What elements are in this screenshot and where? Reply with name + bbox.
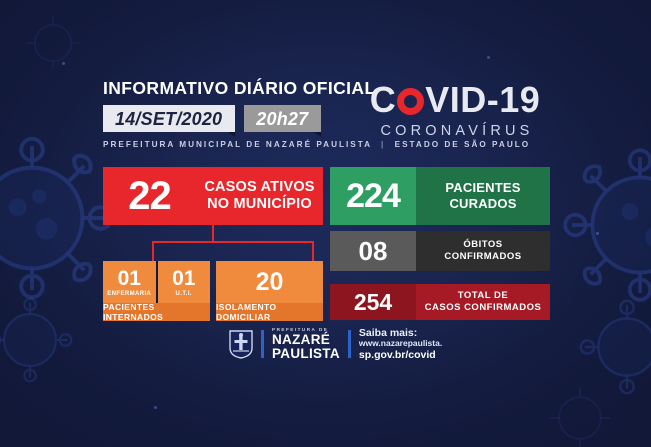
badge-fold-corner bbox=[314, 132, 321, 137]
curados-label-line1: PACIENTES bbox=[445, 180, 520, 196]
municipality-brand: PREFEITURA DE NAZARÉ PAULISTA bbox=[272, 327, 340, 361]
enfermaria-label: ENFERMARIA bbox=[107, 291, 151, 297]
covid-logo: C VID-19 CORONAVÍRUS bbox=[360, 82, 550, 139]
obitos-label: ÓBITOS CONFIRMADOS bbox=[416, 231, 550, 271]
date-badge: 14/SET/2020 bbox=[103, 105, 235, 132]
sparkle-dot bbox=[596, 232, 599, 235]
sparkle-dot bbox=[154, 406, 157, 409]
connector-stem-vertical bbox=[212, 225, 214, 241]
internados-cells: 01 ENFERMARIA 01 U.T.I. bbox=[103, 261, 210, 303]
virus-decoration-left-small bbox=[0, 292, 78, 388]
saiba-mais-url-line2[interactable]: sp.gov.br/covid bbox=[359, 349, 442, 361]
covid-logo-letter-c: C bbox=[370, 82, 397, 118]
casos-ativos-value: 22 bbox=[103, 167, 196, 225]
obitos-value: 08 bbox=[330, 231, 416, 271]
footer-divider bbox=[348, 330, 351, 358]
uti-label: U.T.I. bbox=[176, 291, 192, 297]
isolamento-footer-label: ISOLAMENTO DOMICILIAR bbox=[216, 303, 323, 321]
isolamento-cells: 20 bbox=[216, 261, 323, 303]
casos-ativos-label-line1: CASOS ATIVOS bbox=[204, 179, 314, 196]
total-label: TOTAL DE CASOS CONFIRMADOS bbox=[416, 284, 550, 320]
total-label-line1: TOTAL DE bbox=[458, 290, 508, 302]
header-subtitle: PREFEITURA MUNICIPAL DE NAZARÉ PAULISTA … bbox=[103, 140, 553, 149]
badge-fold-corner bbox=[228, 132, 235, 137]
isolamento-cell: 20 bbox=[216, 261, 323, 303]
card-casos-ativos: 22 CASOS ATIVOS NO MUNICÍPIO bbox=[103, 167, 323, 225]
coat-of-arms-icon bbox=[228, 329, 254, 359]
brand-line1: NAZARÉ bbox=[272, 333, 340, 347]
internados-footer-label: PACIENTES INTERNADOS bbox=[103, 303, 210, 321]
footer-divider bbox=[261, 330, 264, 358]
isolamento-value: 20 bbox=[256, 272, 284, 293]
internados-cell-enfermaria: 01 ENFERMARIA bbox=[103, 261, 156, 303]
infographic-canvas: INFORMATIVO DIÁRIO OFICIAL 14/SET/2020 2… bbox=[0, 0, 651, 447]
curados-label-line2: CURADOS bbox=[449, 196, 516, 212]
time-badge: 20h27 bbox=[244, 105, 321, 132]
total-label-line2: CASOS CONFIRMADOS bbox=[425, 302, 542, 314]
subtitle-separator: | bbox=[376, 140, 390, 149]
sparkle-dot bbox=[487, 56, 490, 59]
internados-cell-uti: 01 U.T.I. bbox=[158, 261, 211, 303]
breakdown-connector bbox=[103, 225, 323, 261]
connector-branch-left bbox=[152, 241, 154, 261]
virus-decoration-top-left bbox=[18, 8, 88, 78]
uti-value: 01 bbox=[172, 268, 195, 289]
casos-ativos-label: CASOS ATIVOS NO MUNICÍPIO bbox=[196, 167, 323, 225]
obitos-label-line1: ÓBITOS bbox=[463, 239, 502, 251]
curados-value: 224 bbox=[330, 167, 416, 225]
virus-decoration-bottom-right bbox=[540, 378, 620, 447]
total-value: 254 bbox=[330, 284, 416, 320]
subtitle-state: ESTADO DE SÃO PAULO bbox=[395, 140, 531, 149]
brand-line2: PAULISTA bbox=[272, 347, 340, 361]
enfermaria-value: 01 bbox=[118, 268, 141, 289]
virus-ring-icon bbox=[397, 88, 424, 115]
covid-logo-rest: VID-19 bbox=[425, 82, 540, 118]
curados-label: PACIENTES CURADOS bbox=[416, 167, 550, 225]
sparkle-dot bbox=[62, 62, 65, 65]
saiba-mais-block[interactable]: Saiba mais: www.nazarepaulista. sp.gov.b… bbox=[359, 327, 442, 361]
card-total-casos-confirmados: 254 TOTAL DE CASOS CONFIRMADOS bbox=[330, 284, 550, 320]
virus-decoration-right bbox=[555, 140, 651, 310]
covid-logo-subtitle: CORONAVÍRUS bbox=[360, 123, 550, 139]
card-obitos-confirmados: 08 ÓBITOS CONFIRMADOS bbox=[330, 231, 550, 271]
covid-logo-wordmark: C VID-19 bbox=[360, 82, 550, 118]
saiba-mais-url-line1[interactable]: www.nazarepaulista. bbox=[359, 339, 442, 349]
connector-horizontal bbox=[152, 241, 314, 243]
footer-block: PREFEITURA DE NAZARÉ PAULISTA Saiba mais… bbox=[228, 326, 426, 362]
card-pacientes-curados: 224 PACIENTES CURADOS bbox=[330, 167, 550, 225]
card-pacientes-internados: 01 ENFERMARIA 01 U.T.I. PACIENTES INTERN… bbox=[103, 261, 210, 321]
time-badge-text: 20h27 bbox=[256, 110, 308, 128]
casos-ativos-label-line2: NO MUNICÍPIO bbox=[207, 196, 312, 213]
card-isolamento-domiciliar: 20 ISOLAMENTO DOMICILIAR bbox=[216, 261, 323, 321]
connector-branch-right bbox=[312, 241, 314, 261]
date-badge-text: 14/SET/2020 bbox=[115, 110, 222, 128]
subtitle-municipality: PREFEITURA MUNICIPAL DE NAZARÉ PAULISTA bbox=[103, 140, 372, 149]
obitos-label-line2: CONFIRMADOS bbox=[444, 251, 521, 263]
